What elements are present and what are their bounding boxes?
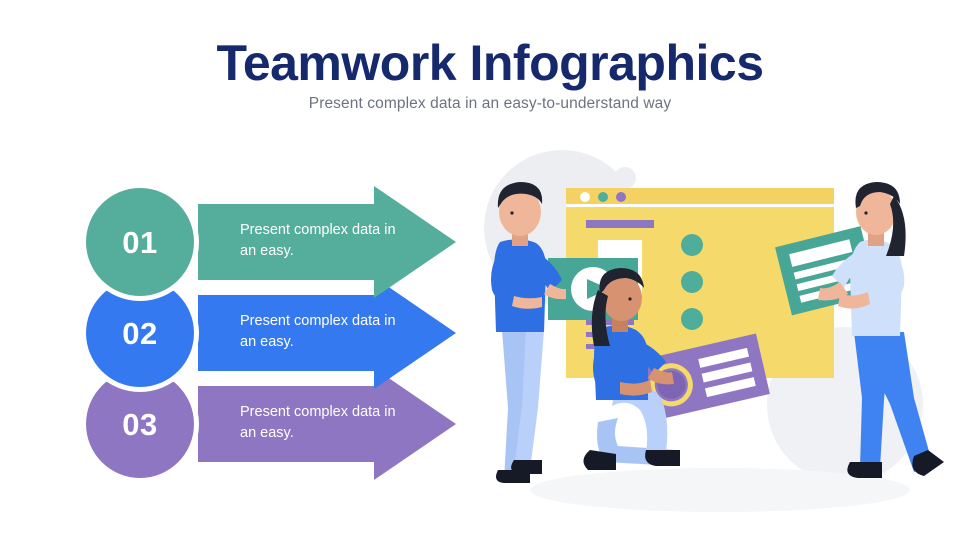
step-description-03: Present complex data in an easy.	[240, 402, 415, 444]
step-description-02: Present complex data in an easy.	[240, 311, 415, 353]
teamwork-illustration	[470, 150, 980, 520]
bullet-dot-3	[681, 308, 703, 330]
step-number-02: 02	[122, 318, 157, 349]
bullet-dot-1	[681, 234, 703, 256]
step-number-03: 03	[122, 409, 157, 440]
bullet-dot-2	[681, 271, 703, 293]
browser-dot-teal	[598, 192, 608, 202]
step-item-01[interactable]: Present complex data in an easy. 01	[0, 186, 470, 298]
browser-dot-purple	[616, 192, 626, 202]
step-circle-01[interactable]: 01	[86, 188, 194, 296]
step-number-01: 01	[122, 227, 157, 258]
infographic-slide: Teamwork Infographics Present complex da…	[0, 0, 980, 551]
step-description-01: Present complex data in an easy.	[240, 220, 415, 262]
browser-dot-white	[580, 192, 590, 202]
steps-list: Present complex data in an easy. 01 Pres…	[0, 0, 470, 551]
